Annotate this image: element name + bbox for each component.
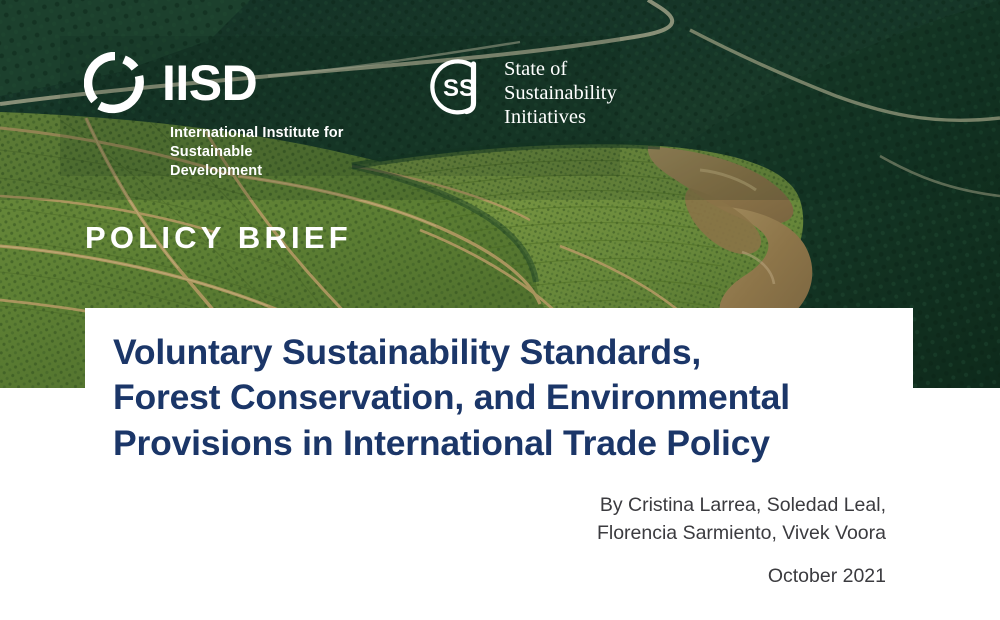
page-title: Voluntary Sustainability Standards, Fore… bbox=[113, 330, 903, 466]
publication-date: October 2021 bbox=[326, 563, 886, 591]
iisd-primary-row: IISD bbox=[84, 52, 344, 114]
iisd-tagline: International Institute for Sustainable … bbox=[170, 124, 344, 181]
policy-brief-kicker: POLICY BRIEF bbox=[85, 222, 352, 253]
title-block: Voluntary Sustainability Standards, Fore… bbox=[113, 330, 903, 466]
policy-brief-cover: IISD International Institute for Sustain… bbox=[0, 0, 1000, 620]
author-list: By Cristina Larrea, Soledad Leal, Floren… bbox=[326, 492, 886, 547]
svg-text:SS: SS bbox=[443, 75, 475, 102]
iisd-wordmark: IISD bbox=[162, 58, 257, 108]
iisd-logo[interactable]: IISD International Institute for Sustain… bbox=[84, 52, 344, 181]
byline-block: By Cristina Larrea, Soledad Leal, Floren… bbox=[326, 492, 886, 591]
ssi-circle-monogram-icon: SS bbox=[428, 56, 490, 118]
ssi-name: State of Sustainability Initiatives bbox=[504, 56, 617, 130]
logo-bar: IISD International Institute for Sustain… bbox=[84, 52, 617, 181]
ssi-logo[interactable]: SS State of Sustainability Initiatives bbox=[428, 56, 617, 130]
iisd-broken-ring-icon bbox=[84, 52, 146, 114]
